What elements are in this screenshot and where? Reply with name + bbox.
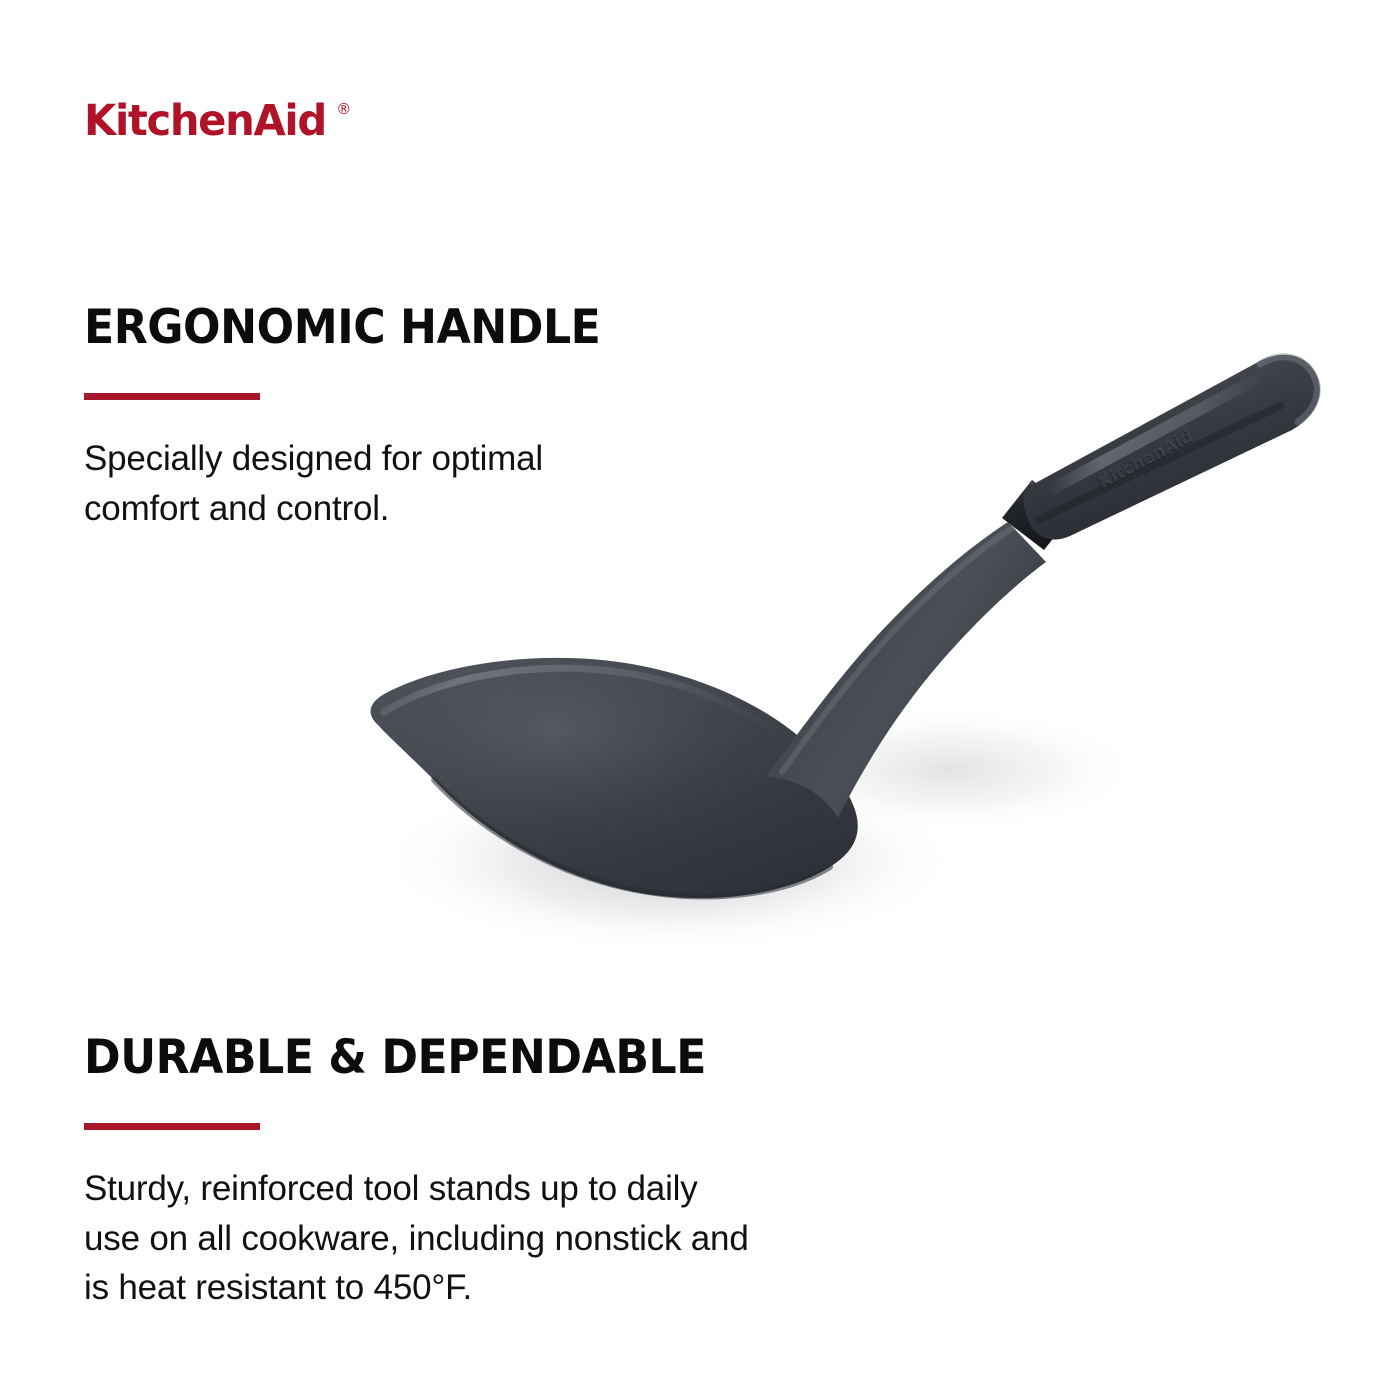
product-image-spatula: KitchenAid KitchenAid — [330, 340, 1360, 980]
feature-accent-rule — [84, 393, 260, 400]
feature-title-durable-dependable: DURABLE & DEPENDABLE — [84, 1030, 709, 1085]
body-line: is heat resistant to 450°F. — [84, 1263, 749, 1313]
body-line: use on all cookware, including nonstick … — [84, 1214, 749, 1264]
feature-block-durable-dependable: DURABLE & DEPENDABLE Sturdy, reinforced … — [84, 1030, 749, 1313]
brand-wordmark: KitchenAid — [84, 100, 326, 143]
product-feature-page: KitchenAid ® ERGONOMIC HANDLE Specially … — [0, 0, 1400, 1400]
feature-accent-rule — [84, 1123, 260, 1130]
feature-body-durable-dependable: Sturdy, reinforced tool stands up to dai… — [84, 1164, 749, 1313]
kitchenaid-logo: KitchenAid ® — [84, 100, 351, 143]
registered-trademark-icon: ® — [336, 102, 351, 117]
body-line: Sturdy, reinforced tool stands up to dai… — [84, 1164, 749, 1214]
